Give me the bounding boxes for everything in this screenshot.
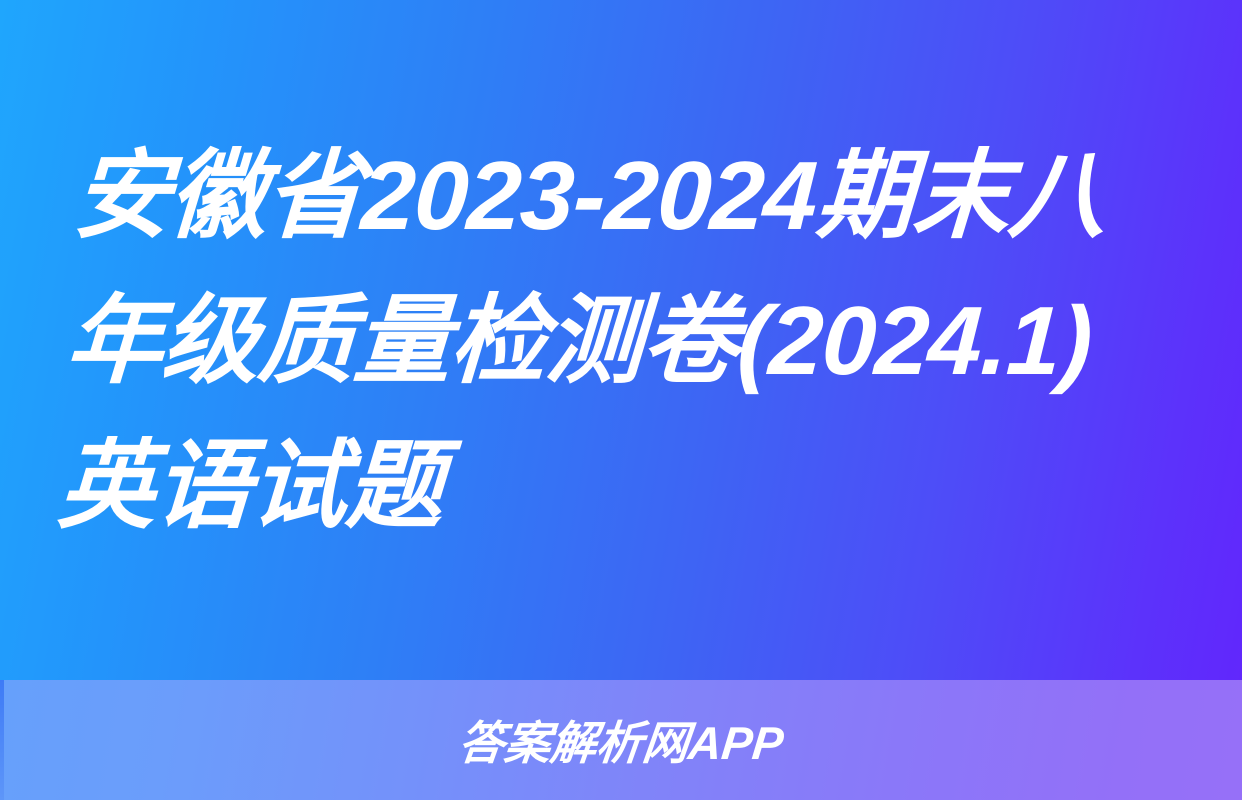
footer-left-edge-accent bbox=[0, 680, 4, 800]
footer-band: 答案解析网APP bbox=[0, 680, 1242, 800]
watermark-brand: 答案解析网APP bbox=[455, 707, 787, 773]
page-title: 安徽省2023-2024期末八年级质量检测卷(2024.1)英语试题 bbox=[55, 123, 1178, 558]
title-block: 安徽省2023-2024期末八年级质量检测卷(2024.1)英语试题 bbox=[0, 0, 1242, 680]
poster-root: 安徽省2023-2024期末八年级质量检测卷(2024.1)英语试题 答案解析网… bbox=[0, 0, 1242, 800]
